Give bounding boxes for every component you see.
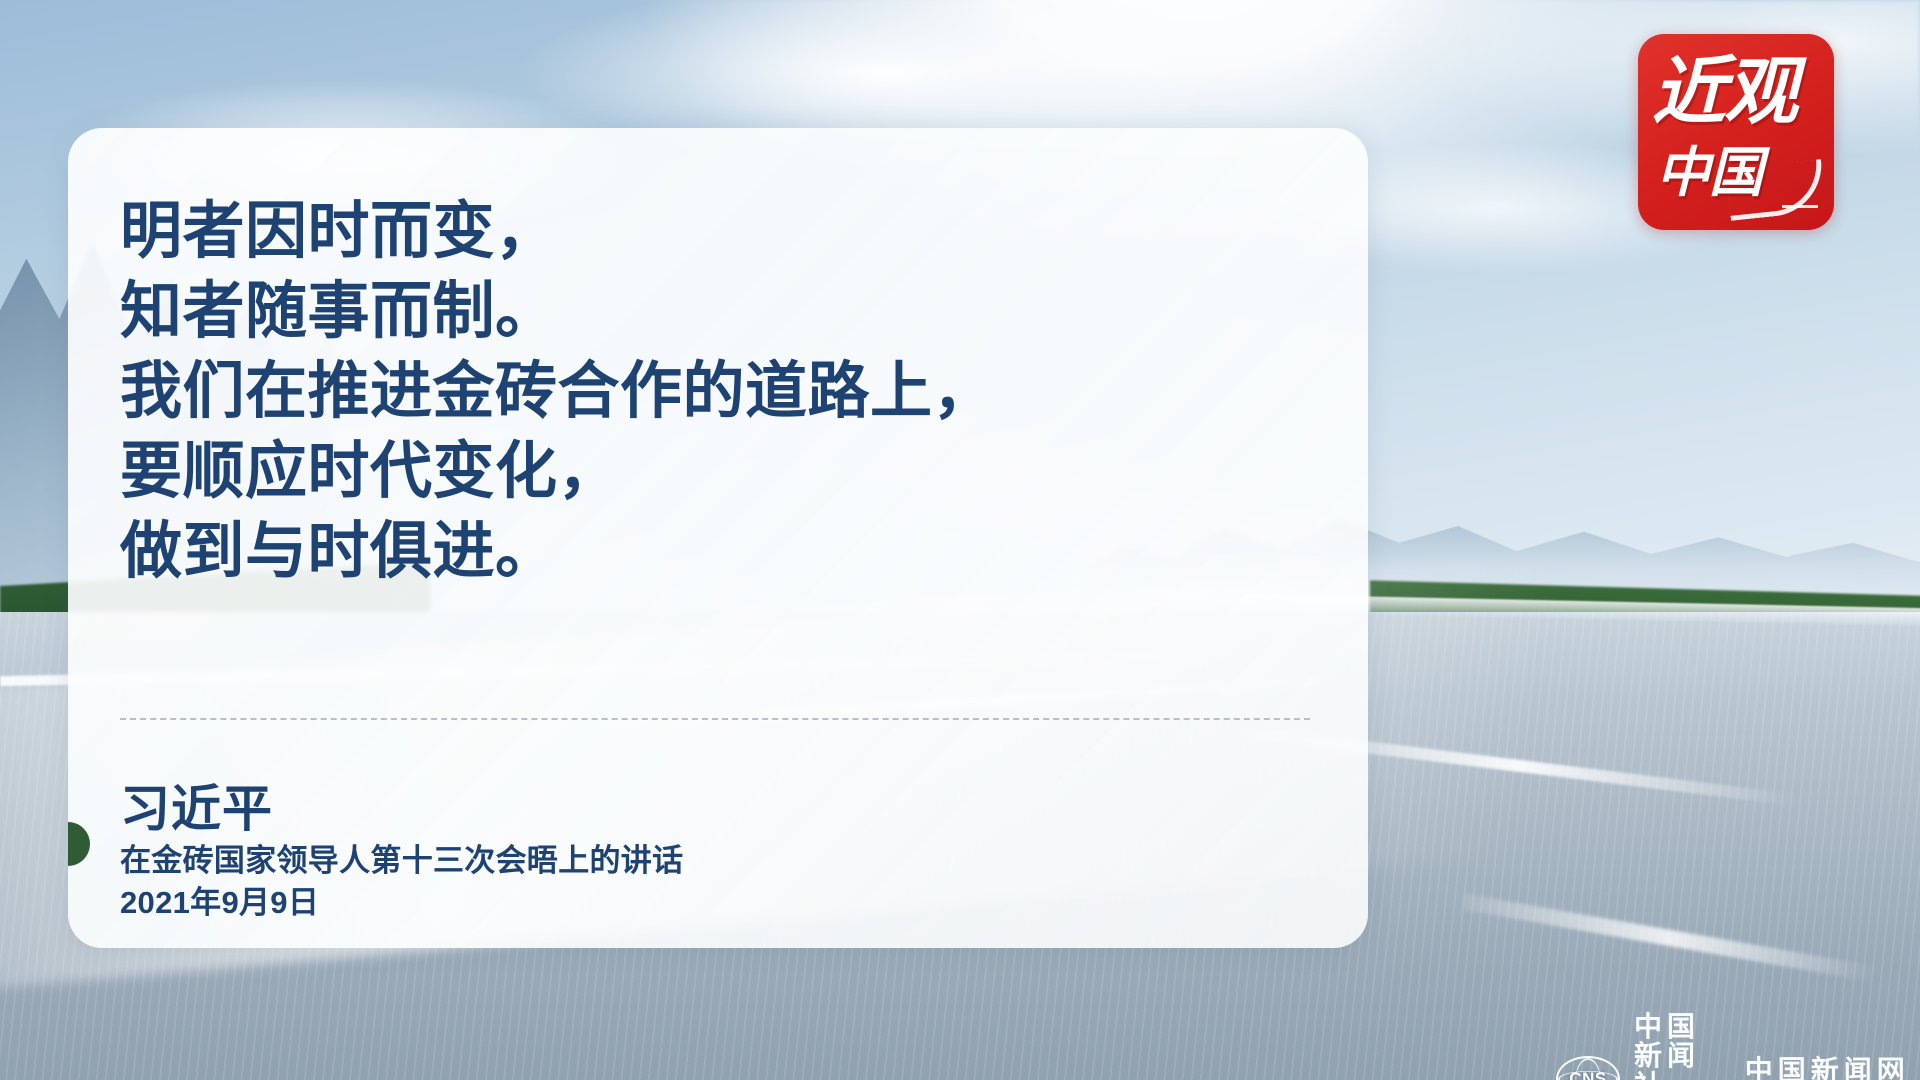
agency-block: 中国新闻社 CHINA NEWS SERVICE (1634, 1012, 1711, 1080)
quote-card: 明者因时而变， 知者随事而制。 我们在推进金砖合作的道路上， 要顺应时代变化， … (68, 128, 1368, 948)
badge-main-text: 近观 (1652, 56, 1822, 127)
cns-mark-text: CNS (1558, 1069, 1618, 1080)
speech-date: 2021年9月9日 (120, 882, 683, 924)
cns-globe-icon: CNS (1556, 1056, 1620, 1080)
speech-occasion: 在金砖国家领导人第十三次会晤上的讲话 (120, 840, 683, 882)
site-name-cn: 中国新闻网 (1745, 1056, 1920, 1080)
quote-line-2: 知者随事而制。 (120, 272, 1368, 352)
quote-line-5: 做到与时俱进。 (120, 512, 1368, 592)
poster-canvas: 近观 中国 明者因时而变， 知者随事而制。 我们在推进金砖合作的道路上， 要顺应… (0, 0, 1920, 1080)
badge-swoosh-icon (1726, 159, 1827, 221)
quote-line-1: 明者因时而变， (120, 192, 1368, 272)
quote-line-3: 我们在推进金砖合作的道路上， (120, 352, 1368, 432)
site-block: 中国新闻网 WWW.CHINANEWS.COM (1745, 1056, 1920, 1080)
badge-tick-icon (1782, 205, 1818, 208)
speaker-name: 习近平 (120, 778, 683, 840)
agency-name-cn: 中国新闻社 (1634, 1012, 1711, 1080)
quote-line-4: 要顺应时代变化， (120, 432, 1368, 512)
attribution-block: 习近平 在金砖国家领导人第十三次会晤上的讲话 2021年9月9日 (120, 778, 683, 923)
brand-badge-jinguan-zhongguo[interactable]: 近观 中国 (1638, 34, 1834, 230)
watermark: CNS 中国新闻社 CHINA NEWS SERVICE 中国新闻网 WWW.C… (1556, 1012, 1920, 1080)
dashed-divider (120, 718, 1310, 720)
quote-text-block: 明者因时而变， 知者随事而制。 我们在推进金砖合作的道路上， 要顺应时代变化， … (120, 192, 1368, 592)
